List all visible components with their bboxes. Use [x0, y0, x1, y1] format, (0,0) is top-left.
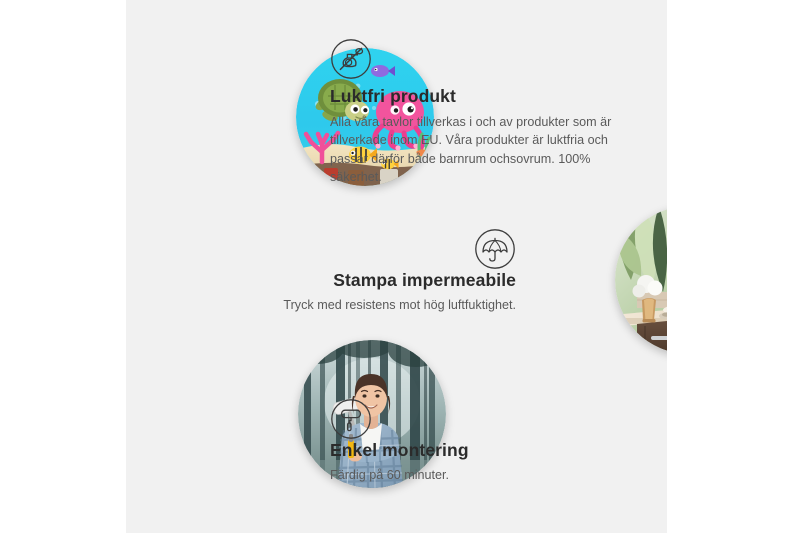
feature-easy-mounting-title: Enkel montering — [330, 440, 610, 462]
umbrella-icon — [474, 228, 516, 270]
feature-waterproof-title: Stampa impermeabile — [198, 270, 516, 292]
feature-easy-mounting-text: Enkel montering Färdig på 60 minuter. — [330, 440, 610, 484]
feature-waterproof-description: Tryck med resistens mot hög luftfuktighe… — [198, 296, 516, 315]
paint-roller-icon — [330, 398, 372, 440]
screenshot-root: Luktfri produkt Alla våra tavlor tillver… — [0, 0, 800, 533]
feature-odourless-text: Luktfri produkt Alla våra tavlor tillver… — [330, 86, 626, 187]
feature-odourless-title: Luktfri produkt — [330, 86, 626, 108]
feature-panel: Luktfri produkt Alla våra tavlor tillver… — [126, 0, 667, 533]
feature-odourless-description: Alla våra tavlor tillverkas i och av pro… — [330, 113, 626, 187]
feature-easy-mounting-description: Färdig på 60 minuter. — [330, 466, 610, 485]
no-fragrance-spray-icon — [330, 38, 372, 80]
feature-waterproof-text: Stampa impermeabile Tryck med resistens … — [198, 270, 516, 314]
photo-bathroom-tropical-wallpaper — [615, 206, 667, 354]
